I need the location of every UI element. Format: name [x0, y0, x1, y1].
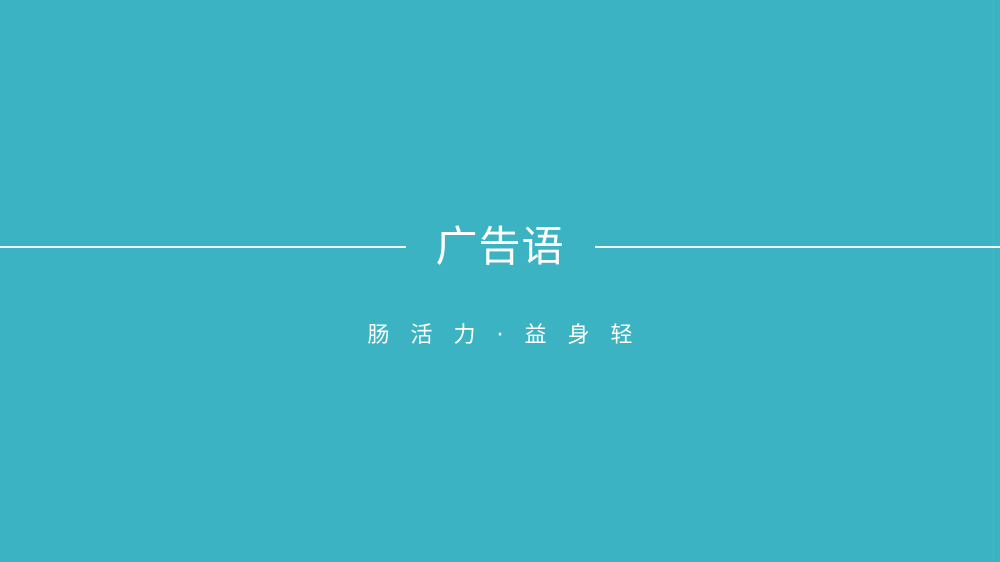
divider-rule-left	[0, 246, 406, 248]
slide-subtitle: 肠 活 力 · 益 身 轻	[0, 322, 1000, 350]
slide-canvas: 广告语 肠 活 力 · 益 身 轻	[0, 0, 1000, 562]
headline-band: 广告语	[0, 226, 1000, 268]
slide-edge-seam	[993, 0, 994, 562]
divider-rule-right	[595, 246, 1000, 248]
page-title: 广告语	[406, 226, 595, 268]
